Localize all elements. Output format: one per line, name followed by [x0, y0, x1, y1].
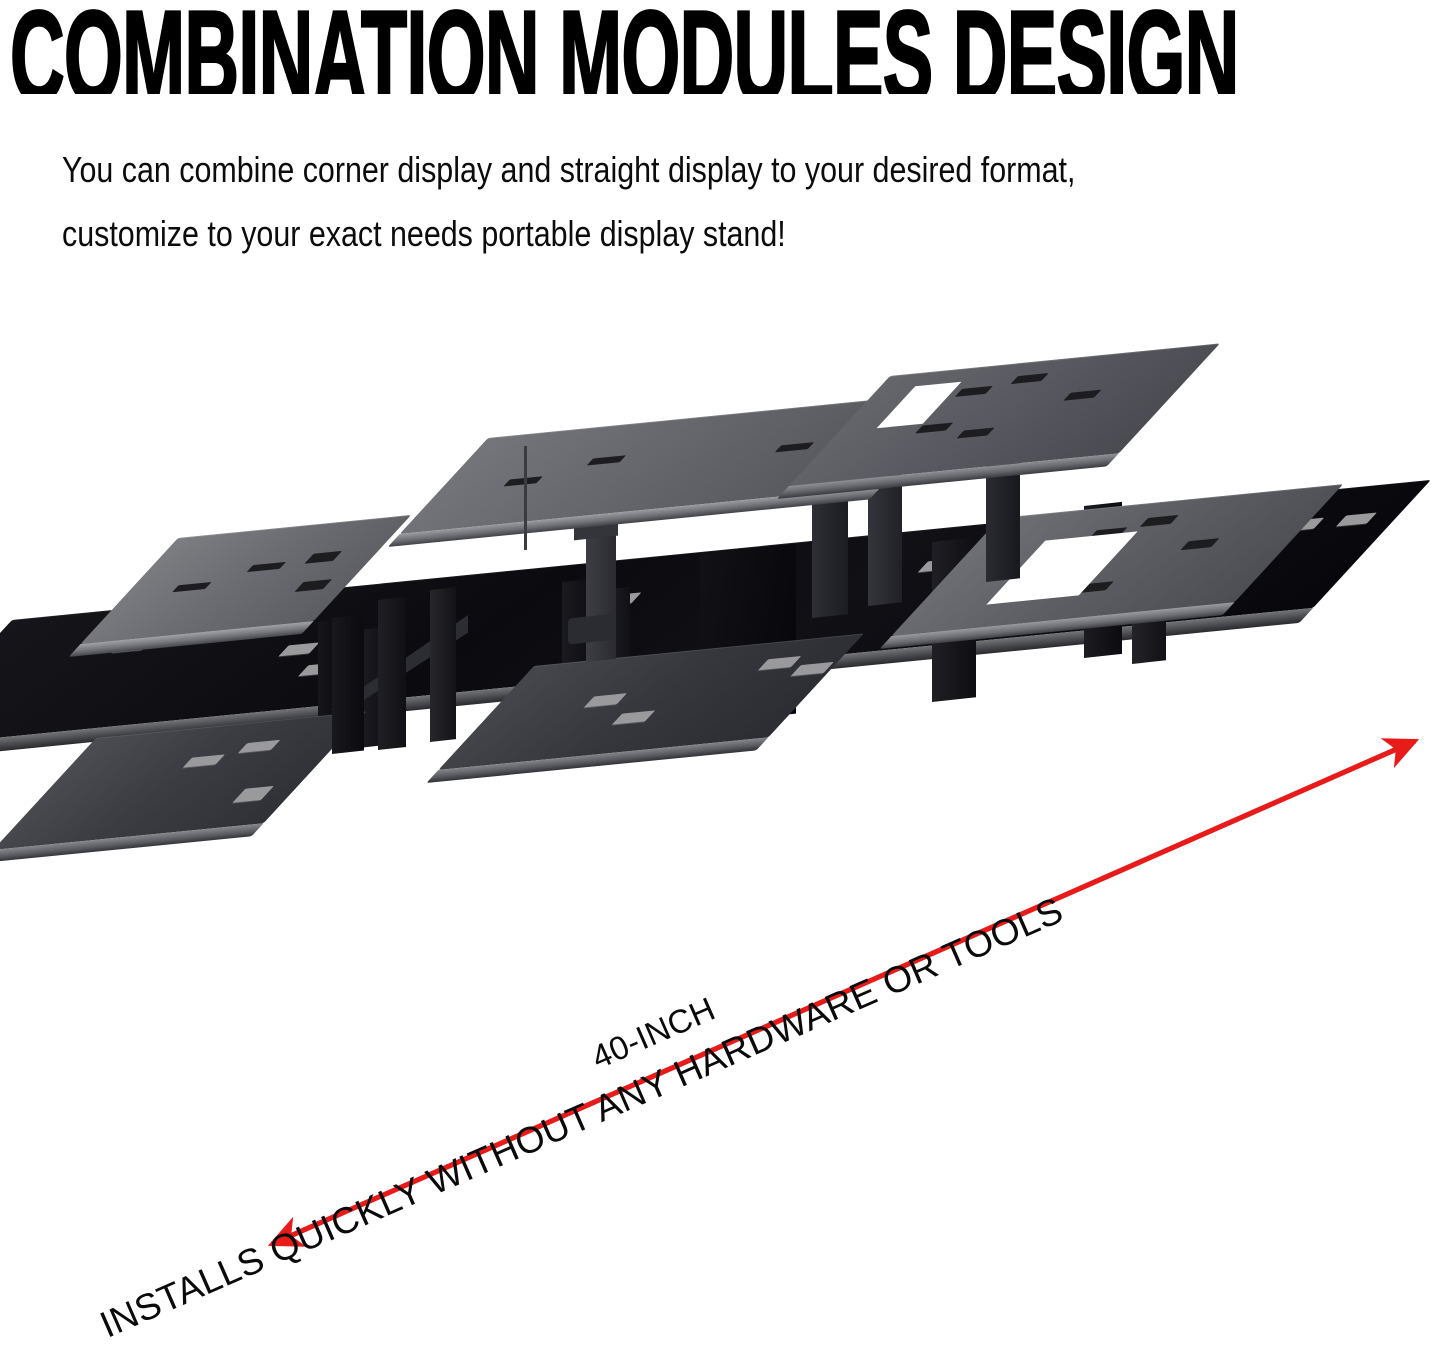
product-photo: 40-INCH INSTALLS QUICKLY WITHOUT ANY HAR…	[0, 300, 1445, 1317]
top-corner-shelf-module-right	[789, 343, 1220, 486]
feature-label-installs-quickly: INSTALLS QUICKLY WITHOUT ANY HARDWARE OR…	[94, 889, 1069, 1346]
page-title-wrapper: COMBINATION MODULES DESIGN	[10, 0, 1440, 94]
page-title: COMBINATION MODULES DESIGN	[10, 0, 1061, 94]
module-seam	[524, 446, 527, 550]
dimension-label-40-inch: 40-INCH	[586, 990, 721, 1077]
leg-panel	[430, 587, 456, 742]
subtitle-line-1: You can combine corner display and strai…	[62, 152, 1075, 188]
leg-panel	[332, 615, 364, 754]
leg-bracket-hook	[568, 613, 616, 644]
leg-panel	[378, 597, 406, 750]
subtitle-line-2: customize to your exact needs portable d…	[62, 216, 786, 252]
header-block: COMBINATION MODULES DESIGN You can combi…	[0, 0, 1445, 290]
